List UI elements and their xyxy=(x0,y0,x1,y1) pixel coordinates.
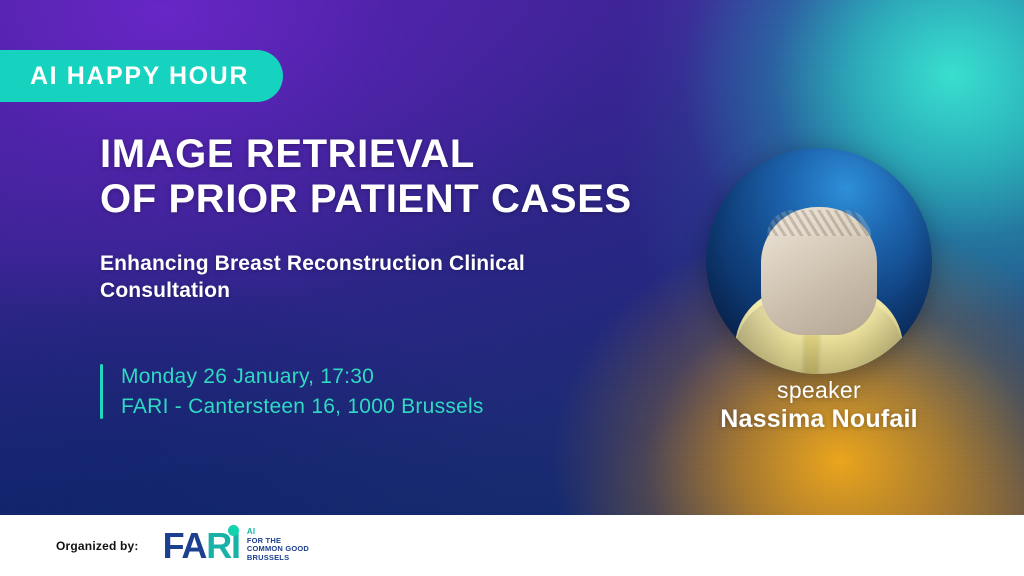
ai-happy-hour-badge: AI HAPPY HOUR xyxy=(0,50,283,102)
fari-logo: FA RI AI FOR THE COMMON GOOD BRUSSELS xyxy=(163,528,309,563)
page-subtitle: Enhancing Breast Reconstruction Clinical… xyxy=(100,250,590,304)
fari-tagline-line3: BRUSSELS xyxy=(247,554,309,563)
accent-bar xyxy=(100,364,103,419)
organized-by-label: Organized by: xyxy=(56,539,139,553)
speaker-label: speaker xyxy=(706,376,932,404)
footer-bar: Organized by: FA RI AI FOR THE COMMON GO… xyxy=(0,515,1024,576)
headline-block: IMAGE RETRIEVAL OF PRIOR PATIENT CASES E… xyxy=(100,132,660,304)
speaker-name: Nassima Noufail xyxy=(706,404,932,434)
title-line-2: OF PRIOR PATIENT CASES xyxy=(100,177,660,222)
fari-dot-icon xyxy=(228,525,239,536)
event-details: Monday 26 January, 17:30 FARI - Canterst… xyxy=(100,364,484,419)
portrait-vignette xyxy=(706,148,932,374)
badge-label: AI HAPPY HOUR xyxy=(30,62,249,91)
page-title: IMAGE RETRIEVAL OF PRIOR PATIENT CASES xyxy=(100,132,660,222)
fari-wordmark-fa: FA xyxy=(163,529,207,563)
speaker-caption: speaker Nassima Noufail xyxy=(706,376,932,434)
title-line-1: IMAGE RETRIEVAL xyxy=(100,132,660,177)
event-details-lines: Monday 26 January, 17:30 FARI - Canterst… xyxy=(121,364,484,419)
event-poster: AI HAPPY HOUR IMAGE RETRIEVAL OF PRIOR P… xyxy=(0,0,1024,576)
fari-wordmark: FA RI xyxy=(163,529,240,563)
fari-tagline: AI FOR THE COMMON GOOD BRUSSELS xyxy=(247,528,309,563)
event-datetime: Monday 26 January, 17:30 xyxy=(121,364,484,389)
speaker-portrait xyxy=(706,148,932,374)
event-venue: FARI - Cantersteen 16, 1000 Brussels xyxy=(121,394,484,419)
